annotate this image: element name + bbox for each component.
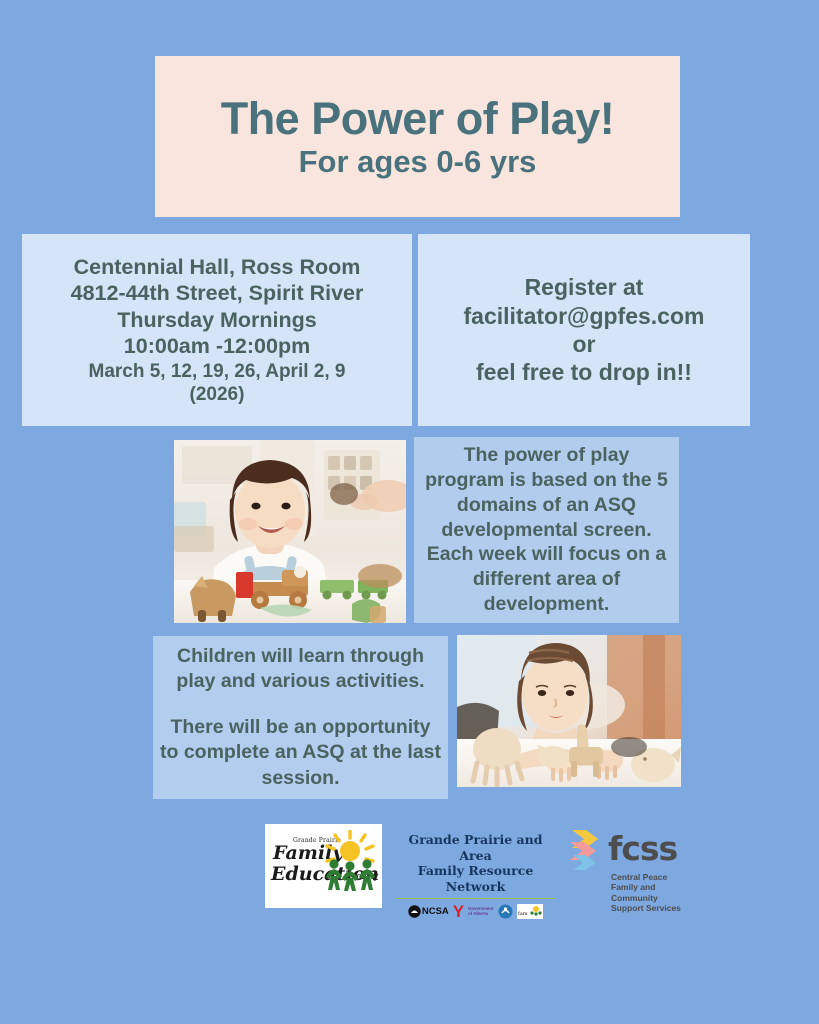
venue-time: 10:00am -12:00pm — [124, 333, 310, 359]
partner-government-label: Government of Alberta — [468, 907, 494, 916]
frn-title-line-1: Grande Prairie and Area — [393, 832, 558, 863]
photo-child-wooden-truck-image — [174, 440, 406, 623]
photo-child-wooden-truck — [174, 440, 406, 623]
partner-gpfes-mini-icon: fam — [517, 904, 543, 919]
venue-day: Thursday Mornings — [117, 307, 316, 333]
register-or: or — [573, 330, 596, 358]
frn-title-line-2: Family Resource Network — [393, 863, 558, 894]
fcss-wordmark-row: fcss — [570, 828, 695, 870]
gpfes-sun-and-figures-icon — [322, 830, 378, 892]
ncsa-mark-icon — [408, 905, 421, 918]
venue-location: Centennial Hall, Ross Room — [74, 254, 361, 280]
venue-dates: March 5, 12, 19, 26, April 2, 9 — [89, 360, 346, 383]
poster-canvas: The Power of Play! For ages 0-6 yrs Cent… — [0, 0, 819, 1024]
venue-year: (2026) — [190, 383, 245, 406]
page-subtitle: For ages 0-6 yrs — [299, 146, 537, 179]
frn-divider — [395, 898, 556, 899]
frn-partner-logos: NCSA Y Government of Alberta fam — [393, 901, 558, 923]
learning-outcomes-box: Children will learn through play and var… — [153, 636, 448, 799]
register-email[interactable]: facilitator@gpfes.com — [464, 302, 705, 330]
logo-gpfes: Grande Prairie Family Education Society — [265, 824, 382, 908]
partner-ncsa-logo: NCSA — [408, 905, 449, 918]
partner-y-icon: Y — [453, 903, 464, 920]
fcss-subtitle-line-3: Support Services — [611, 903, 695, 913]
learning-paragraph-2: There will be an opportunity to complete… — [159, 715, 442, 791]
ncsa-label: NCSA — [422, 906, 449, 917]
learning-paragraph-1: Children will learn through play and var… — [159, 644, 442, 695]
venue-address: 4812-44th Street, Spirit River — [71, 280, 364, 306]
venue-info-box: Centennial Hall, Ross Room 4812-44th Str… — [22, 234, 412, 426]
registration-box: Register at facilitator@gpfes.com or fee… — [418, 234, 750, 426]
partner-circle-mark-icon — [498, 904, 513, 919]
logo-family-resource-network: Grande Prairie and Area Family Resource … — [393, 832, 558, 898]
register-dropin: feel free to drop in!! — [476, 358, 692, 386]
logo-row: Grande Prairie Family Education Society — [255, 820, 695, 920]
program-description-text: The power of play program is based on th… — [424, 443, 669, 616]
title-banner: The Power of Play! For ages 0-6 yrs — [155, 56, 680, 217]
fcss-subtitle-line-2: Family and Community — [611, 882, 695, 903]
page-title: The Power of Play! — [221, 95, 615, 142]
fcss-subtitle-line-1: Central Peace — [611, 872, 695, 882]
photo-girl-wooden-animals-image — [457, 635, 681, 787]
register-label: Register at — [525, 273, 644, 301]
logo-fcss: fcss Central Peace Family and Community … — [570, 828, 695, 900]
photo-girl-wooden-animals — [457, 635, 681, 787]
fcss-chevron-icon — [570, 828, 604, 870]
program-description-box: The power of play program is based on th… — [414, 437, 679, 623]
fcss-wordmark: fcss — [608, 834, 677, 864]
svg-text:fam: fam — [518, 911, 528, 917]
